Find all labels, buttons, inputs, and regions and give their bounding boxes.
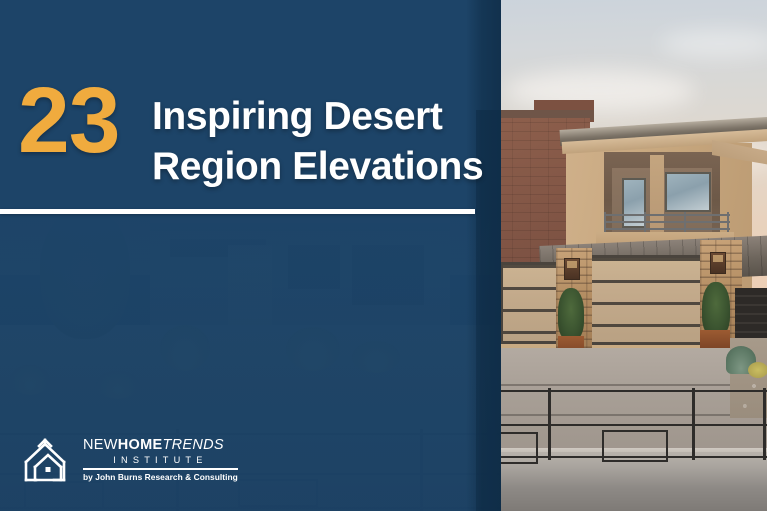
foreground-metal-fence: [492, 388, 767, 460]
logo-tagline: by John Burns Research & Consulting: [83, 472, 238, 483]
title-divider-rule: [0, 209, 475, 214]
logo-word-trends: TRENDS: [162, 437, 223, 453]
title-line-1: Inspiring Desert: [152, 92, 492, 142]
logo-wordmark: NEWHOMETRENDS INSTITUTE by John Burns Re…: [83, 437, 238, 483]
driveway-joint: [492, 384, 767, 386]
garage-door-main: [587, 255, 709, 345]
logo-institute-line: INSTITUTE: [83, 454, 238, 467]
title-panel: 23 Inspiring Desert Region Elevations: [0, 0, 501, 511]
balcony-railing: [604, 212, 730, 234]
potted-shrub: [558, 288, 584, 340]
wall-sconce: [710, 252, 726, 274]
headline-block: 23 Inspiring Desert Region Elevations: [0, 0, 501, 511]
wall-sconce: [564, 258, 580, 280]
page-title: Inspiring Desert Region Elevations: [152, 92, 492, 192]
desert-plant: [748, 362, 767, 378]
planter-pot: [700, 330, 730, 348]
brand-logo: NEWHOMETRENDS INSTITUTE by John Burns Re…: [22, 436, 238, 484]
logo-word-new: NEW: [83, 437, 118, 453]
report-cover: 23 Inspiring Desert Region Elevations: [0, 0, 767, 511]
logo-divider-rule: [83, 468, 238, 470]
logo-word-home: HOME: [118, 437, 163, 453]
potted-shrub: [702, 282, 730, 336]
title-line-2: Region Elevations: [152, 142, 492, 192]
house-outline-arrow-icon: [22, 436, 74, 484]
upper-window: [665, 172, 711, 212]
item-count: 23: [18, 74, 119, 167]
logo-brand-line: NEWHOMETRENDS: [83, 437, 238, 454]
